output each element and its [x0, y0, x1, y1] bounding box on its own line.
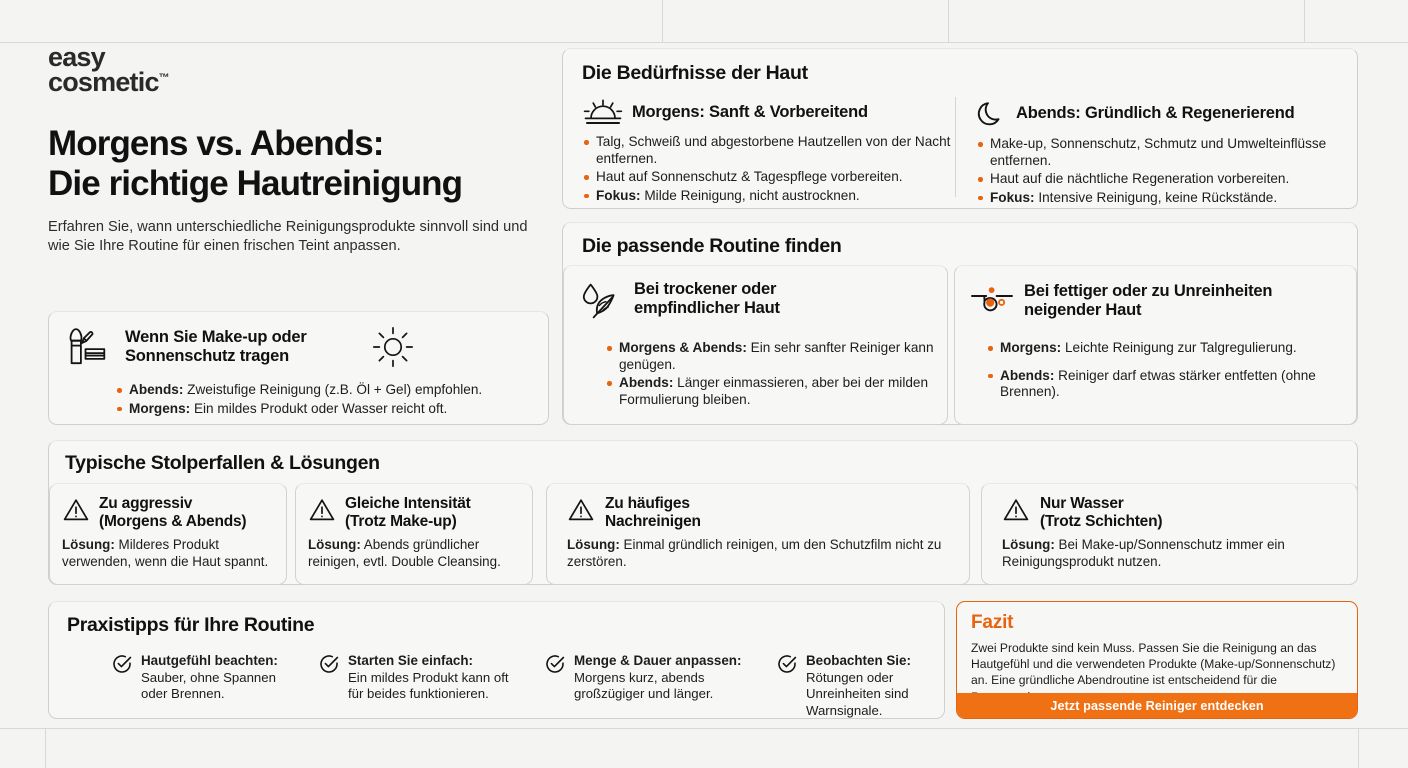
needs-morning-block: Morgens: Sanft & Vorbereitend Talg, Schw… [583, 99, 953, 206]
tip-item-2: Starten Sie einfach:Ein mildes Produkt k… [319, 653, 519, 703]
warning-triangle-icon [308, 497, 336, 523]
makeup-brush-icon [67, 327, 113, 367]
routine-oily-list: Morgens: Leichte Reinigung zur Talgregul… [987, 340, 1347, 412]
needs-morning-list: Talg, Schweiß und abgestorbene Hautzelle… [583, 134, 953, 204]
list-item: Morgens: Ein mildes Produkt oder Wasser … [116, 401, 536, 418]
needs-evening-list: Make-up, Sonnenschutz, Schmutz und Umwel… [977, 136, 1349, 206]
list-item: Haut auf Sonnenschutz & Tagespflege vorb… [583, 169, 953, 186]
makeup-card-list: Abends: Zweistufige Reinigung (z.B. Öl +… [116, 382, 536, 419]
warning-triangle-icon [62, 497, 90, 523]
skin-needs-title: Die Bedürfnisse der Haut [582, 62, 808, 85]
sunrise-icon [583, 99, 623, 125]
sun-icon [372, 326, 414, 368]
pitfall-4-solution: Lösung: Bei Make-up/Sonnenschutz immer e… [1002, 537, 1352, 570]
brand-line-2: cosmetic™ [48, 70, 348, 95]
list-item: Talg, Schweiß und abgestorbene Hautzelle… [583, 134, 953, 167]
tip-item-3: Menge & Dauer anpassen:Morgens kurz, abe… [545, 653, 750, 703]
pitfall-3-title-line-2: Nachreinigen [605, 513, 957, 531]
routine-group-title: Die passende Routine finden [582, 235, 842, 258]
pitfall-card-1: Zu aggressiv (Morgens & Abends) Lösung: … [49, 483, 287, 585]
warning-triangle-icon [1002, 497, 1030, 523]
makeup-card-title-line-1: Wenn Sie Make-up oder [125, 328, 360, 347]
tip-1-text: Sauber, ohne Spannen oder Brennen. [141, 670, 276, 702]
pitfall-4-title-line-1: Nur Wasser [1040, 495, 1342, 513]
pitfall-2-solution: Lösung: Abends gründlicher reinigen, evt… [308, 537, 526, 570]
pitfall-3-solution: Lösung: Einmal gründlich reinigen, um de… [567, 537, 967, 570]
routine-group-card: Die passende Routine finden Bei trock [562, 222, 1358, 425]
needs-divider [955, 97, 956, 197]
skin-needs-card: Die Bedürfnisse der Haut Morgens: Sanft … [562, 48, 1358, 209]
tip-item-4: Beobachten Sie:Rötungen oder Unreinheite… [777, 653, 957, 719]
pitfall-1-solution: Lösung: Milderes Produkt verwenden, wenn… [62, 537, 280, 570]
routine-dry-title-line-1: Bei trockener oder [634, 280, 935, 299]
pitfall-1-title-line-1: Zu aggressiv [99, 495, 278, 513]
tip-item-1: Hautgefühl beachten:Sauber, ohne Spannen… [112, 653, 282, 703]
pore-sebum-icon [970, 285, 1014, 315]
trademark-symbol: ™ [159, 72, 170, 84]
pitfall-card-2: Gleiche Intensität (Trotz Make-up) Lösun… [295, 483, 533, 585]
pitfall-4-title-line-2: (Trotz Schichten) [1040, 513, 1342, 531]
pitfalls-group-title: Typische Stolperfallen & Lösungen [65, 452, 380, 475]
routine-oily-title-line-2: neigender Haut [1024, 301, 1348, 320]
pitfall-3-title-line-1: Zu häufiges [605, 495, 957, 513]
cta-button[interactable]: Jetzt passende Reiniger entdecken [957, 693, 1357, 718]
list-item: Fokus: Milde Reinigung, nicht austrockne… [583, 188, 953, 205]
tip-3-text: Morgens kurz, abends großzügiger und län… [574, 670, 713, 702]
needs-evening-block: Abends: Gründlich & Regenerierend Make-u… [977, 99, 1349, 208]
check-circle-icon [112, 654, 132, 674]
list-item: Haut auf die nächtliche Regeneration vor… [977, 171, 1349, 188]
routine-dry-skin-card: Bei trockener oder empfindlicher Haut Mo… [563, 265, 948, 425]
list-item: Make-up, Sonnenschutz, Schmutz und Umwel… [977, 136, 1349, 169]
list-item: Fokus: Intensive Reinigung, keine Rückst… [977, 190, 1349, 207]
pitfall-2-title-line-2: (Trotz Make-up) [345, 513, 524, 531]
tip-2-text: Ein mildes Produkt kann oft für beides f… [348, 670, 509, 702]
droplet-feather-icon [579, 282, 623, 322]
tip-3-label: Menge & Dauer anpassen: [574, 653, 750, 670]
pitfall-1-title-line-2: (Morgens & Abends) [99, 513, 278, 531]
list-item: Abends: Zweistufige Reinigung (z.B. Öl +… [116, 382, 536, 399]
makeup-card-title-line-2: Sonnenschutz tragen [125, 347, 360, 366]
tip-4-text: Rötungen oder Unreinheiten sind Warnsign… [806, 670, 909, 718]
page-subtitle: Erfahren Sie, wann unterschiedliche Rein… [48, 218, 553, 257]
pitfall-card-4: Nur Wasser (Trotz Schichten) Lösung: Bei… [981, 483, 1358, 585]
tip-4-label: Beobachten Sie: [806, 653, 957, 670]
list-item: Morgens & Abends: Ein sehr sanfter Reini… [606, 340, 936, 373]
routine-dry-title-line-2: empfindlicher Haut [634, 299, 935, 318]
headline-line-1: Morgens vs. Abends: [48, 124, 568, 164]
page-title: Morgens vs. Abends: Die richtige Hautrei… [48, 124, 568, 204]
needs-evening-heading: Abends: Gründlich & Regenerierend [1016, 104, 1295, 123]
check-circle-icon [777, 654, 797, 674]
routine-oily-title-line-1: Bei fettiger oder zu Unreinheiten [1024, 282, 1348, 301]
practice-tips-title: Praxistipps für Ihre Routine [67, 614, 314, 637]
needs-morning-heading: Morgens: Sanft & Vorbereitend [632, 103, 868, 122]
makeup-sunscreen-card: Wenn Sie Make-up oder Sonnenschutz trage… [48, 311, 549, 425]
pitfall-2-title-line-1: Gleiche Intensität [345, 495, 524, 513]
check-circle-icon [319, 654, 339, 674]
list-item: Abends: Länger einmassieren, aber bei de… [606, 375, 936, 408]
moon-icon [977, 99, 1007, 127]
list-item: Abends: Reiniger darf etwas stärker entf… [987, 368, 1347, 401]
list-item: Morgens: Leichte Reinigung zur Talgregul… [987, 340, 1347, 357]
pitfalls-group-card: Typische Stolperfallen & Lösungen Zu agg… [48, 440, 1358, 585]
tip-2-label: Starten Sie einfach: [348, 653, 519, 670]
fazit-card: Fazit Zwei Produkte sind kein Muss. Pass… [956, 601, 1358, 719]
routine-dry-list: Morgens & Abends: Ein sehr sanfter Reini… [606, 340, 936, 410]
fazit-title: Fazit [971, 612, 1013, 634]
check-circle-icon [545, 654, 565, 674]
brand-logo: easy cosmetic™ [48, 45, 348, 95]
warning-triangle-icon [567, 497, 595, 523]
tip-1-label: Hautgefühl beachten: [141, 653, 282, 670]
routine-oily-skin-card: Bei fettiger oder zu Unreinheiten neigen… [954, 265, 1357, 425]
practice-tips-card: Praxistipps für Ihre Routine Hautgefühl … [48, 601, 945, 719]
pitfall-card-3: Zu häufiges Nachreinigen Lösung: Einmal … [546, 483, 970, 585]
headline-line-2: Die richtige Hautreinigung [48, 164, 568, 204]
